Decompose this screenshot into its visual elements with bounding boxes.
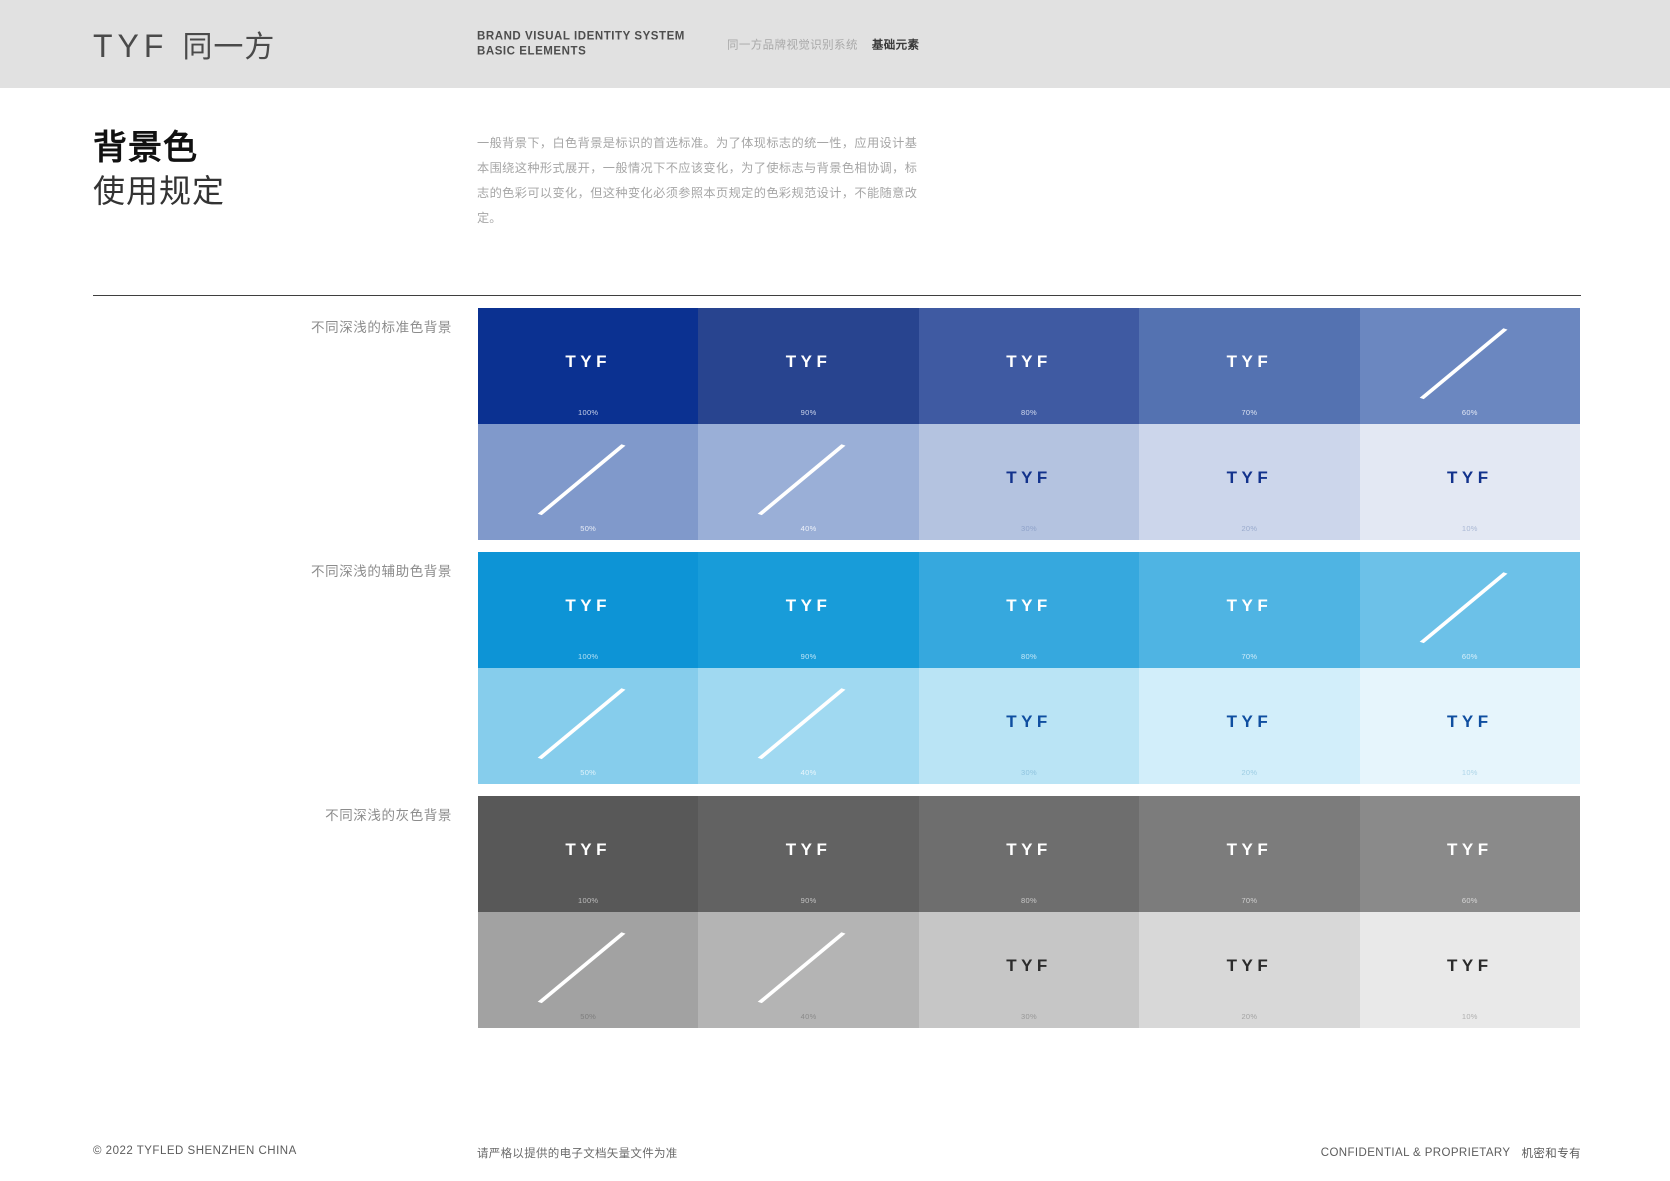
footer-confidential-cn: 机密和专有 bbox=[1522, 1145, 1582, 1161]
footer-note: 请严格以提供的电子文档矢量文件为准 bbox=[477, 1145, 678, 1161]
swatch-percentage-label: 20% bbox=[1139, 1012, 1359, 1021]
footer-confidential-en: CONFIDENTIAL & PROPRIETARY bbox=[1321, 1147, 1511, 1159]
swatch-cell[interactable]: 50% bbox=[478, 668, 698, 784]
swatch-logo-mark: TYF bbox=[786, 840, 832, 860]
swatch-cell[interactable]: TYF30% bbox=[919, 668, 1139, 784]
page-title-main: 背景色 bbox=[93, 128, 225, 168]
swatch-percentage-label: 60% bbox=[1360, 652, 1580, 661]
swatch-percentage-label: 20% bbox=[1139, 524, 1359, 533]
swatch-percentage-label: 80% bbox=[919, 408, 1139, 417]
swatch-percentage-label: 70% bbox=[1139, 652, 1359, 661]
swatch-percentage-label: 30% bbox=[919, 768, 1139, 777]
swatch-percentage-label: 10% bbox=[1360, 524, 1580, 533]
header-title-cn-group: 同一方品牌视觉识别系统 基础元素 bbox=[727, 36, 920, 53]
swatch-cell[interactable]: TYF70% bbox=[1139, 308, 1359, 424]
swatch-logo-mark: TYF bbox=[1447, 712, 1493, 732]
swatch-cell[interactable]: TYF20% bbox=[1139, 668, 1359, 784]
header-title-en-line2: BASIC ELEMENTS bbox=[477, 44, 685, 59]
swatch-logo-mark: TYF bbox=[1006, 352, 1052, 372]
swatch-group-label-gray: 不同深浅的灰色背景 bbox=[122, 804, 452, 824]
swatch-cell[interactable]: TYF80% bbox=[919, 796, 1139, 912]
swatch-percentage-label: 50% bbox=[478, 524, 698, 533]
swatch-logo-mark: TYF bbox=[1227, 840, 1273, 860]
swatch-logo-mark: TYF bbox=[1006, 468, 1052, 488]
swatch-logo-mark: TYF bbox=[1227, 352, 1273, 372]
swatch-percentage-label: 40% bbox=[698, 1012, 918, 1021]
forbidden-slash-icon bbox=[1360, 308, 1580, 424]
swatch-logo-mark: TYF bbox=[1447, 956, 1493, 976]
swatch-logo-mark: TYF bbox=[1227, 596, 1273, 616]
swatch-cell[interactable]: TYF20% bbox=[1139, 912, 1359, 1028]
swatch-logo-mark: TYF bbox=[565, 840, 611, 860]
swatch-row-top: TYF100%TYF90%TYF80%TYF70%60% bbox=[478, 308, 1580, 424]
swatch-percentage-label: 100% bbox=[478, 408, 698, 417]
swatch-cell[interactable]: TYF60% bbox=[1360, 796, 1580, 912]
swatch-cell[interactable]: TYF100% bbox=[478, 308, 698, 424]
brand-logo: TYF 同一方 bbox=[93, 22, 275, 66]
brand-logo-chinese: 同一方 bbox=[182, 22, 275, 66]
swatch-cell[interactable]: TYF80% bbox=[919, 308, 1139, 424]
swatch-cell[interactable]: TYF80% bbox=[919, 552, 1139, 668]
swatch-percentage-label: 60% bbox=[1360, 408, 1580, 417]
swatch-percentage-label: 70% bbox=[1139, 896, 1359, 905]
swatch-logo-mark: TYF bbox=[1227, 468, 1273, 488]
header-title-en-line1: BRAND VISUAL IDENTITY SYSTEM bbox=[477, 29, 685, 44]
swatch-row-bottom: 50%40%TYF30%TYF20%TYF10% bbox=[478, 912, 1580, 1028]
swatch-cell[interactable]: TYF30% bbox=[919, 424, 1139, 540]
footer-copyright: © 2022 TYFLED SHENZHEN CHINA bbox=[93, 1145, 297, 1157]
swatch-percentage-label: 80% bbox=[919, 896, 1139, 905]
swatch-cell[interactable]: 50% bbox=[478, 424, 698, 540]
swatch-cell[interactable]: TYF30% bbox=[919, 912, 1139, 1028]
header-title-en: BRAND VISUAL IDENTITY SYSTEM BASIC ELEME… bbox=[477, 29, 685, 58]
swatch-logo-mark: TYF bbox=[565, 352, 611, 372]
intro-paragraph: 一般背景下，白色背景是标识的首选标准。为了体现标志的统一性，应用设计基本围绕这种… bbox=[477, 131, 917, 232]
swatch-cell[interactable]: TYF90% bbox=[698, 552, 918, 668]
swatch-cell[interactable]: 50% bbox=[478, 912, 698, 1028]
swatch-cell[interactable]: 40% bbox=[698, 424, 918, 540]
swatch-cell[interactable]: 40% bbox=[698, 912, 918, 1028]
page-title-sub: 使用规定 bbox=[93, 172, 225, 211]
page-title: 背景色 使用规定 bbox=[93, 128, 225, 211]
forbidden-slash-icon bbox=[698, 912, 918, 1028]
swatch-logo-mark: TYF bbox=[786, 596, 832, 616]
swatch-cell[interactable]: 60% bbox=[1360, 308, 1580, 424]
header-section-cn: 基础元素 bbox=[872, 37, 920, 53]
swatch-cell[interactable]: TYF100% bbox=[478, 796, 698, 912]
swatch-percentage-label: 90% bbox=[698, 896, 918, 905]
swatch-percentage-label: 100% bbox=[478, 896, 698, 905]
swatch-cell[interactable]: TYF10% bbox=[1360, 424, 1580, 540]
swatch-group-secondary: 不同深浅的辅助色背景TYF100%TYF90%TYF80%TYF70%60%50… bbox=[478, 552, 1580, 784]
swatch-cell[interactable]: TYF100% bbox=[478, 552, 698, 668]
swatch-cell[interactable]: TYF20% bbox=[1139, 424, 1359, 540]
swatch-percentage-label: 90% bbox=[698, 652, 918, 661]
swatch-cell[interactable]: TYF10% bbox=[1360, 912, 1580, 1028]
swatch-logo-mark: TYF bbox=[1447, 840, 1493, 860]
swatch-group-gray: 不同深浅的灰色背景TYF100%TYF90%TYF80%TYF70%TYF60%… bbox=[478, 796, 1580, 1028]
header-meta: BRAND VISUAL IDENTITY SYSTEM BASIC ELEME… bbox=[477, 29, 919, 58]
swatch-percentage-label: 20% bbox=[1139, 768, 1359, 777]
swatch-percentage-label: 50% bbox=[478, 1012, 698, 1021]
swatch-cell[interactable]: TYF90% bbox=[698, 308, 918, 424]
swatch-group-label-primary: 不同深浅的标准色背景 bbox=[122, 316, 452, 336]
header-title-cn: 同一方品牌视觉识别系统 bbox=[727, 37, 858, 53]
swatch-percentage-label: 50% bbox=[478, 768, 698, 777]
section-divider bbox=[93, 295, 1581, 296]
swatch-logo-mark: TYF bbox=[1006, 840, 1052, 860]
swatch-row-top: TYF100%TYF90%TYF80%TYF70%TYF60% bbox=[478, 796, 1580, 912]
swatch-row-bottom: 50%40%TYF30%TYF20%TYF10% bbox=[478, 668, 1580, 784]
forbidden-slash-icon bbox=[478, 912, 698, 1028]
swatch-percentage-label: 30% bbox=[919, 1012, 1139, 1021]
brand-logo-latin: TYF bbox=[93, 28, 168, 65]
page-footer: © 2022 TYFLED SHENZHEN CHINA 请严格以提供的电子文档… bbox=[0, 1145, 1670, 1181]
forbidden-slash-icon bbox=[478, 668, 698, 784]
swatch-percentage-label: 40% bbox=[698, 524, 918, 533]
swatch-group-primary: 不同深浅的标准色背景TYF100%TYF90%TYF80%TYF70%60%50… bbox=[478, 308, 1580, 540]
swatch-row-bottom: 50%40%TYF30%TYF20%TYF10% bbox=[478, 424, 1580, 540]
swatch-logo-mark: TYF bbox=[1447, 468, 1493, 488]
swatch-row-top: TYF100%TYF90%TYF80%TYF70%60% bbox=[478, 552, 1580, 668]
swatch-cell[interactable]: 60% bbox=[1360, 552, 1580, 668]
swatch-percentage-label: 80% bbox=[919, 652, 1139, 661]
swatch-logo-mark: TYF bbox=[1006, 956, 1052, 976]
swatch-percentage-label: 10% bbox=[1360, 768, 1580, 777]
swatch-group-label-secondary: 不同深浅的辅助色背景 bbox=[122, 560, 452, 580]
swatch-percentage-label: 40% bbox=[698, 768, 918, 777]
swatch-cell[interactable]: TYF10% bbox=[1360, 668, 1580, 784]
swatch-percentage-label: 10% bbox=[1360, 1012, 1580, 1021]
swatch-cell[interactable]: 40% bbox=[698, 668, 918, 784]
swatch-logo-mark: TYF bbox=[1227, 712, 1273, 732]
swatch-cell[interactable]: TYF70% bbox=[1139, 796, 1359, 912]
swatch-percentage-label: 90% bbox=[698, 408, 918, 417]
forbidden-slash-icon bbox=[1360, 552, 1580, 668]
swatch-percentage-label: 60% bbox=[1360, 896, 1580, 905]
page-header: TYF 同一方 BRAND VISUAL IDENTITY SYSTEM BAS… bbox=[0, 0, 1670, 88]
footer-confidential: CONFIDENTIAL & PROPRIETARY 机密和专有 bbox=[1321, 1145, 1581, 1161]
forbidden-slash-icon bbox=[698, 668, 918, 784]
forbidden-slash-icon bbox=[478, 424, 698, 540]
swatch-percentage-label: 70% bbox=[1139, 408, 1359, 417]
swatch-logo-mark: TYF bbox=[1227, 956, 1273, 976]
swatch-cell[interactable]: TYF70% bbox=[1139, 552, 1359, 668]
swatch-logo-mark: TYF bbox=[786, 352, 832, 372]
brand-guideline-page: TYF 同一方 BRAND VISUAL IDENTITY SYSTEM BAS… bbox=[0, 0, 1670, 1181]
swatch-logo-mark: TYF bbox=[1006, 596, 1052, 616]
swatch-percentage-label: 100% bbox=[478, 652, 698, 661]
swatch-percentage-label: 30% bbox=[919, 524, 1139, 533]
swatch-cell[interactable]: TYF90% bbox=[698, 796, 918, 912]
swatch-logo-mark: TYF bbox=[1006, 712, 1052, 732]
swatch-logo-mark: TYF bbox=[565, 596, 611, 616]
forbidden-slash-icon bbox=[698, 424, 918, 540]
